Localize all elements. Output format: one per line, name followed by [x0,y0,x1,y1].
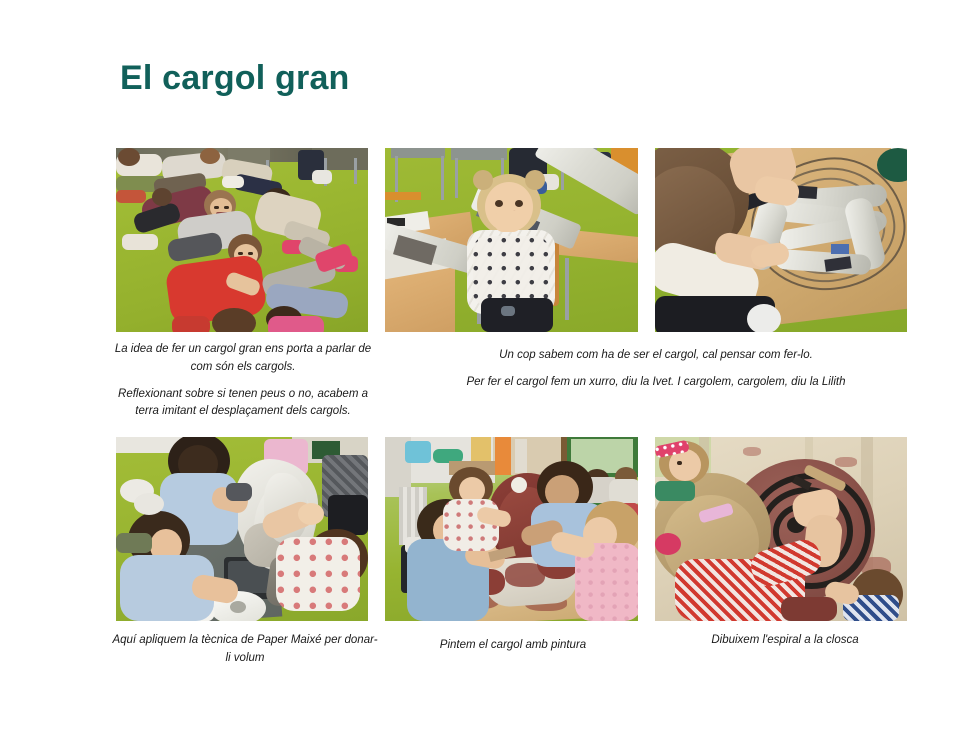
photo-paper-mache-application: Three children applying paper mache over… [116,437,368,621]
caption-row2-left: Aquí apliquem la tècnica de Paper Maixé … [110,632,380,668]
page-title: El cargol gran [120,59,350,98]
caption-line: Per fer el cargol fem un xurro, diu la I… [424,374,888,392]
caption-line: Reflexionant sobre si tenen peus o no, a… [112,386,374,422]
caption-line: Pintem el cargol amb pintura [398,637,628,655]
caption-row1-left: La idea de fer un cargol gran ens porta … [112,341,374,421]
photo-girl-with-paper-tube: A girl in the classroom holding a long r… [385,148,638,332]
photo-painting-the-snail: Four children painting the big snail wit… [385,437,638,621]
caption-line: Aquí apliquem la tècnica de Paper Maixé … [110,632,380,668]
caption-row2-right: Dibuixem l'espiral a la closca [672,632,898,650]
caption-row1-right: Un cop sabem com ha de ser el cargol, ca… [424,347,888,392]
photo-arranging-newspaper-spiral: A child arranging rolled newspaper strip… [655,148,907,332]
caption-line: La idea de fer un cargol gran ens porta … [112,341,374,377]
caption-line: Dibuixem l'espiral a la closca [672,632,898,650]
caption-line: Un cop sabem com ha de ser el cargol, ca… [424,347,888,365]
slide-canvas: El cargol gran [0,0,976,730]
photo-children-imitating-snails: Children lying on a green classroom floo… [116,148,368,332]
photo-drawing-spiral-on-shell: A girl drawing the spiral on the painted… [655,437,907,621]
caption-row2-center: Pintem el cargol amb pintura [398,637,628,655]
